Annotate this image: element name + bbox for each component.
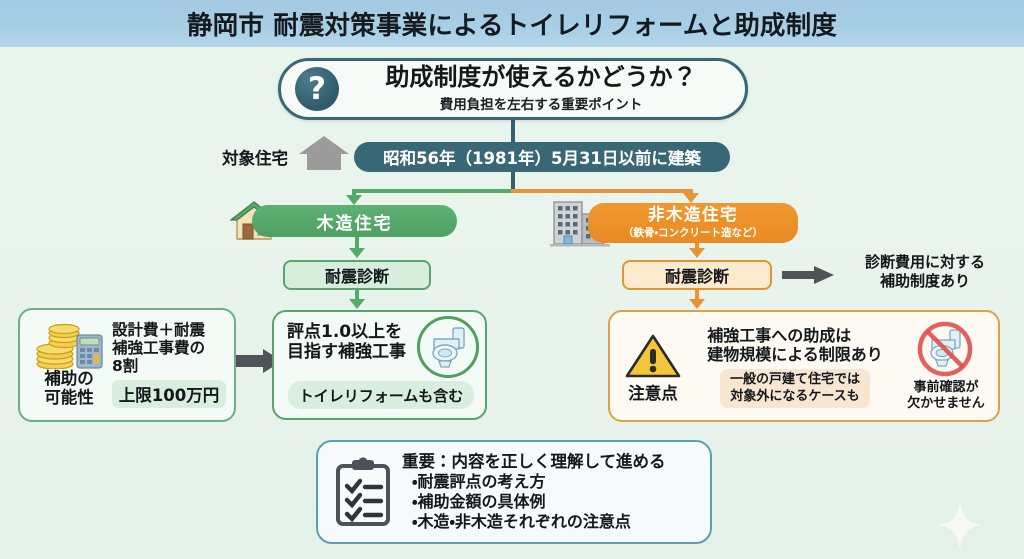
subsidy-detail-line1: 設計費＋耐震 bbox=[112, 322, 205, 340]
connector-question-to-era bbox=[511, 120, 515, 144]
summary-item: ・木造・非木造それぞれの注意点 bbox=[412, 512, 666, 532]
question-subtitle: 費用負担を左右する重要ポイント bbox=[440, 93, 643, 113]
page-title: 静岡市 耐震対策事業によるトイレリフォームと助成制度 bbox=[187, 5, 837, 42]
diagnosis-non-wooden-label: 耐震診断 bbox=[665, 263, 729, 287]
target-housing-label: 対象住宅 bbox=[222, 145, 288, 169]
era-badge-text: 昭和56年（1981年）5月31日以前に建築 bbox=[383, 145, 701, 169]
warning-card: 注意点 補強工事への助成は 建物規模による制限あり 一般の戸建て住宅では 対象外… bbox=[608, 310, 1000, 422]
warning-sub-line2: 対象外になるケースも bbox=[730, 389, 860, 405]
diagnosis-wooden-label: 耐震診断 bbox=[325, 263, 389, 287]
summary-card: 重要：内容を正しく理解して進める ・耐震評点の考え方 ・補助金額の具体例 ・木造… bbox=[316, 440, 712, 544]
branch-wooden: 木造住宅 bbox=[252, 205, 457, 237]
era-badge: 昭和56年（1981年）5月31日以前に建築 bbox=[354, 142, 730, 172]
branch-non-wooden-label: 非木造住宅 bbox=[648, 206, 738, 223]
reinforcement-work-card: 評点1.0以上を 目指す補強工事 トイレリフォームも含む bbox=[272, 310, 487, 420]
warning-note-line2: 欠かせません bbox=[907, 396, 985, 412]
warning-sub-badge: 一般の戸建て住宅では 対象外になるケースも bbox=[720, 369, 870, 408]
work-sub-badge: トイレリフォームも含む bbox=[288, 381, 474, 409]
branch-non-wooden: 非木造住宅 （鉄骨・コンクリート造など） bbox=[588, 203, 798, 243]
branch-wooden-label: 木造住宅 bbox=[317, 209, 393, 234]
house-icon bbox=[298, 134, 350, 172]
header-band: 静岡市 耐震対策事業によるトイレリフォームと助成制度 bbox=[0, 0, 1024, 47]
arrow-down-nonwooden-diag bbox=[689, 248, 705, 258]
arrow-down-wooden-diag bbox=[349, 248, 365, 258]
warning-head-line1: 補強工事への助成は bbox=[707, 326, 883, 345]
diagnosis-subsidy-note-line1: 診断費用に対する bbox=[840, 253, 1010, 272]
subsidy-label-line2: 可能性 bbox=[44, 389, 94, 407]
diagnosis-subsidy-note-line2: 補助制度あり bbox=[840, 272, 1010, 291]
sparkle-icon bbox=[938, 500, 982, 550]
arrow-right-icon bbox=[782, 266, 834, 284]
arrow-down-work bbox=[349, 299, 365, 309]
question-mark-icon: ? bbox=[295, 67, 339, 111]
warning-triangle-icon bbox=[625, 333, 681, 379]
summary-title: 重要：内容を正しく理解して進める bbox=[402, 452, 666, 473]
arrow-down-nonwooden bbox=[683, 193, 699, 203]
subsidy-label-line1: 補助の bbox=[44, 370, 94, 388]
infographic-canvas: 静岡市 耐震対策事業によるトイレリフォームと助成制度 ? 助成制度が使えるかどう… bbox=[0, 0, 1024, 559]
warning-sub-line1: 一般の戸建て住宅では bbox=[730, 372, 860, 388]
work-head-line2: 目指す補強工事 bbox=[287, 342, 406, 362]
warning-note-line1: 事前確認が bbox=[907, 380, 985, 396]
warning-head-line2: 建物規模による制限あり bbox=[707, 345, 883, 364]
subsidy-detail-line3: 8割 bbox=[112, 358, 138, 376]
connector-branch-right bbox=[511, 189, 693, 193]
subsidy-detail-line2: 補強工事費の bbox=[112, 340, 205, 358]
branch-non-wooden-sublabel: （鉄骨・コンクリート造など） bbox=[623, 225, 763, 240]
diagnosis-subsidy-note: 診断費用に対する 補助制度あり bbox=[840, 253, 1010, 291]
clipboard-checklist-icon bbox=[332, 456, 394, 528]
connector-branch-left bbox=[352, 189, 514, 193]
diagnosis-wooden: 耐震診断 bbox=[283, 260, 431, 290]
toilet-icon bbox=[417, 316, 479, 378]
warning-label: 注意点 bbox=[628, 380, 678, 404]
summary-item: ・補助金額の具体例 bbox=[412, 492, 666, 512]
subsidy-possibility-card: 補助の 可能性 設計費＋耐震 補強工事費の 8割 上限100万円 bbox=[18, 308, 236, 422]
arrow-down-warning bbox=[689, 299, 705, 309]
diagnosis-non-wooden: 耐震診断 bbox=[622, 260, 772, 290]
coins-calculator-icon bbox=[33, 323, 105, 369]
work-head-line1: 評点1.0以上を bbox=[287, 322, 406, 342]
no-toilet-icon bbox=[914, 321, 978, 379]
arrow-down-wooden bbox=[346, 195, 362, 205]
subsidy-cap-badge: 上限100万円 bbox=[112, 380, 226, 408]
summary-item: ・耐震評点の考え方 bbox=[412, 472, 666, 492]
question-callout: ? 助成制度が使えるかどうか？ 費用負担を左右する重要ポイント bbox=[278, 58, 748, 120]
question-title: 助成制度が使えるかどうか？ bbox=[385, 65, 696, 90]
